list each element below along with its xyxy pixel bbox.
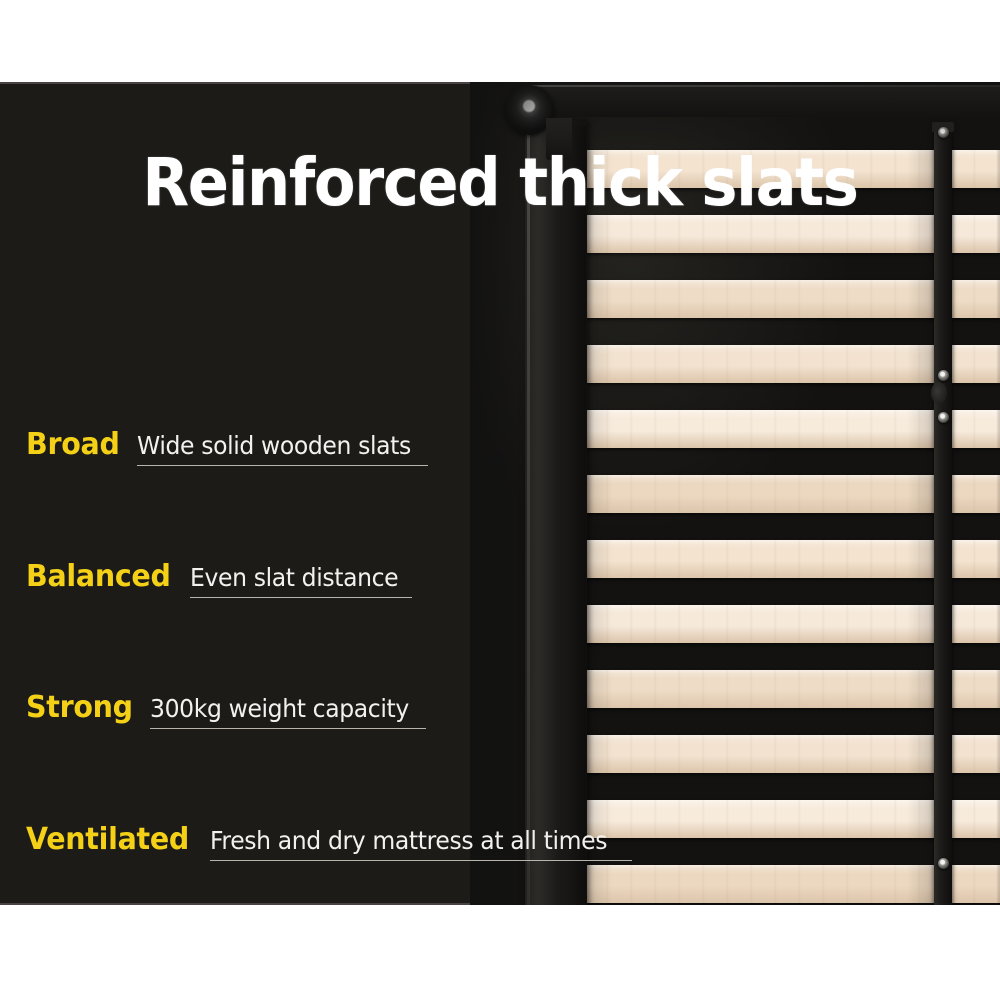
wooden-slat: [585, 670, 935, 708]
support-screw: [938, 858, 949, 869]
wooden-slat: [585, 865, 935, 903]
infographic-canvas: Reinforced thick slats Broad Wide solid …: [0, 0, 1000, 1000]
left-rail-inner-edge: [566, 126, 586, 905]
feature-item-strong: Strong 300kg weight capacity: [26, 690, 426, 729]
feature-value: Wide solid wooden slats: [137, 431, 411, 460]
top-rail-highlight: [528, 85, 1000, 87]
wooden-slat: [952, 605, 1000, 643]
wooden-slat: [585, 410, 935, 448]
feature-key: Ventilated: [26, 822, 189, 857]
feature-item-broad: Broad Wide solid wooden slats: [26, 427, 428, 466]
center-support-rail: [934, 124, 952, 905]
left-rail-highlight: [527, 122, 530, 905]
wooden-slat: [952, 410, 1000, 448]
wooden-slat: [585, 735, 935, 773]
wooden-slat: [585, 345, 935, 383]
wooden-slat: [585, 280, 935, 318]
wooden-slat: [952, 345, 1000, 383]
top-rail: [528, 85, 1000, 117]
wooden-slat: [585, 540, 935, 578]
wooden-slat: [952, 280, 1000, 318]
support-screw: [938, 127, 949, 138]
center-rail-fitting: [931, 382, 947, 404]
feature-key: Balanced: [26, 559, 171, 594]
wooden-slat: [952, 670, 1000, 708]
feature-item-balanced: Balanced Even slat distance: [26, 559, 412, 598]
dark-content-panel: Reinforced thick slats Broad Wide solid …: [0, 82, 1000, 905]
wooden-slat: [952, 865, 1000, 903]
wooden-slat: [952, 540, 1000, 578]
feature-value: 300kg weight capacity: [150, 694, 409, 723]
feature-value-underline: Wide solid wooden slats: [137, 431, 428, 466]
feature-value-underline: Fresh and dry mattress at all times: [210, 826, 632, 861]
support-screw: [938, 370, 949, 381]
page-title: Reinforced thick slats: [40, 144, 960, 221]
feature-value-underline: 300kg weight capacity: [150, 694, 425, 729]
wooden-slat: [585, 605, 935, 643]
feature-item-ventilated: Ventilated Fresh and dry mattress at all…: [26, 822, 632, 861]
feature-value: Even slat distance: [190, 563, 398, 592]
wooden-slat: [952, 800, 1000, 838]
support-screw: [938, 412, 949, 423]
wooden-slat: [952, 475, 1000, 513]
feature-value-underline: Even slat distance: [190, 563, 412, 598]
feature-key: Broad: [26, 427, 120, 462]
wooden-slat: [585, 800, 935, 838]
feature-key: Strong: [26, 690, 133, 725]
wooden-slat: [952, 735, 1000, 773]
wooden-slat: [585, 475, 935, 513]
feature-value: Fresh and dry mattress at all times: [210, 826, 607, 855]
